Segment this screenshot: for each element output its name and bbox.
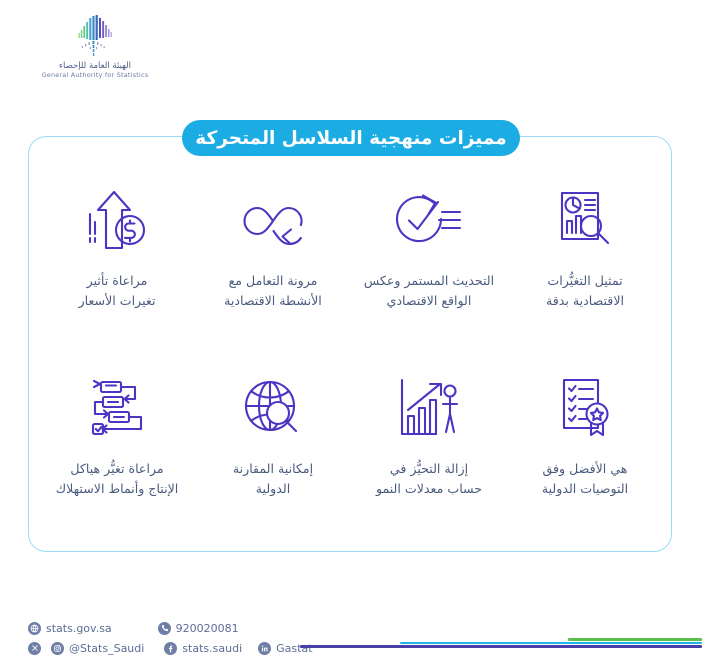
feature-item-8: مراعاة تغيُّر هياكل الإنتاج وأنماط الاست… [39,361,195,549]
phone-number: 920020081 [176,622,239,635]
linkedin-icon [258,642,271,655]
feature-item-6: إزالة التحيُّز في حساب معدلات النمو [351,361,507,549]
feature-label: مراعاة تغيُّر هياكل الإنتاج وأنماط الاست… [47,459,187,498]
features-card: تمثيل التغيُّرات الاقتصادية بدقة التحديث… [28,136,672,552]
website-url: stats.gov.sa [46,622,112,635]
infinity-arrow-icon [233,185,313,257]
growth-bar-chart-person-icon [396,373,462,445]
instagram-handle: @Stats_Saudi [69,642,144,655]
feature-item-7: إمكانية المقارنة الدولية [195,361,351,549]
contact-row-1: stats.gov.sa 920020081 [28,618,327,638]
feature-item-4: مراعاة تأثير تغيرات الأسعار [39,173,195,361]
feature-label: هي الأفضل وفق التوصيات الدولية [515,459,655,498]
features-grid: تمثيل التغيُّرات الاقتصادية بدقة التحديث… [39,173,663,549]
globe-magnifier-icon [242,373,304,445]
phone-icon [158,622,171,635]
bar-segment-green [568,638,702,641]
page-title: مميزات منهجية السلاسل المتحركة [182,120,520,156]
feature-item-1: تمثيل التغيُّرات الاقتصادية بدقة [507,173,663,361]
brand-name-en: General Authority for Statistics [30,72,160,79]
x-twitter-icon [28,642,41,655]
process-flowchart-icon [81,373,153,445]
contact-info: stats.gov.sa 920020081 [28,618,327,658]
facebook-contact[interactable]: stats.saudi [164,642,242,655]
phone-contact[interactable]: 920020081 [132,622,239,635]
gastat-logo: الهيئة العامة للإحصاء General Authority … [30,14,160,79]
bar-segment-purple [300,645,702,648]
feature-item-3: مرونة التعامل مع الأنشطة الاقتصادية [195,173,351,361]
feature-label: إزالة التحيُّز في حساب معدلات النمو [359,459,499,498]
feature-label: إمكانية المقارنة الدولية [203,459,343,498]
feature-item-2: التحديث المستمر وعكس الواقع الاقتصادي [351,173,507,361]
page-footer: stats.gov.sa 920020081 [0,618,702,668]
feature-label: مراعاة تأثير تغيرات الأسعار [47,271,187,310]
feature-label: التحديث المستمر وعكس الواقع الاقتصادي [359,271,499,310]
brand-name-ar: الهيئة العامة للإحصاء [30,62,160,71]
document-pie-chart-magnifier-icon [554,185,616,257]
facebook-handle: stats.saudi [182,642,242,655]
checklist-award-badge-icon [556,373,614,445]
globe-website-icon [28,622,41,635]
page-header: الهيئة العامة للإحصاء General Authority … [0,8,702,94]
decorative-color-bar [300,638,702,650]
refresh-check-circle-icon [390,185,468,257]
facebook-icon [164,642,177,655]
contact-row-2: @Stats_Saudi stats.saudi Gastat [28,638,327,658]
gastat-palm-logo-icon [59,14,131,60]
instagram-contact[interactable]: @Stats_Saudi [51,642,144,655]
up-arrow-dollar-coin-icon [86,185,148,257]
feature-label: تمثيل التغيُّرات الاقتصادية بدقة [515,271,655,310]
instagram-icon [51,642,64,655]
bar-segment-cyan [400,642,702,645]
feature-label: مرونة التعامل مع الأنشطة الاقتصادية [203,271,343,310]
feature-item-5: هي الأفضل وفق التوصيات الدولية [507,361,663,549]
x-twitter-contact[interactable] [28,642,41,655]
website-contact[interactable]: stats.gov.sa [28,622,112,635]
